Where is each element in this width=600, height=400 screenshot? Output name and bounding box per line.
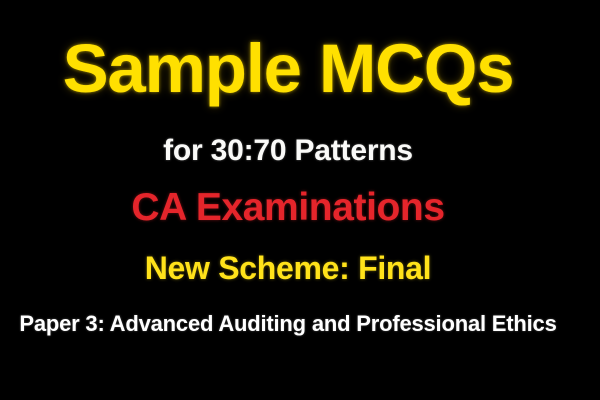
slide-title: Sample MCQs <box>0 34 576 103</box>
paper-subject-text: Paper 3: Advanced Auditing and Professio… <box>0 313 576 335</box>
exam-name-text: CA Examinations <box>0 188 576 227</box>
title-slide: Sample MCQs for 30:70 Patterns CA Examin… <box>0 0 600 400</box>
slide-subtitle: for 30:70 Patterns <box>0 136 576 166</box>
scheme-level-text: New Scheme: Final <box>0 252 576 284</box>
